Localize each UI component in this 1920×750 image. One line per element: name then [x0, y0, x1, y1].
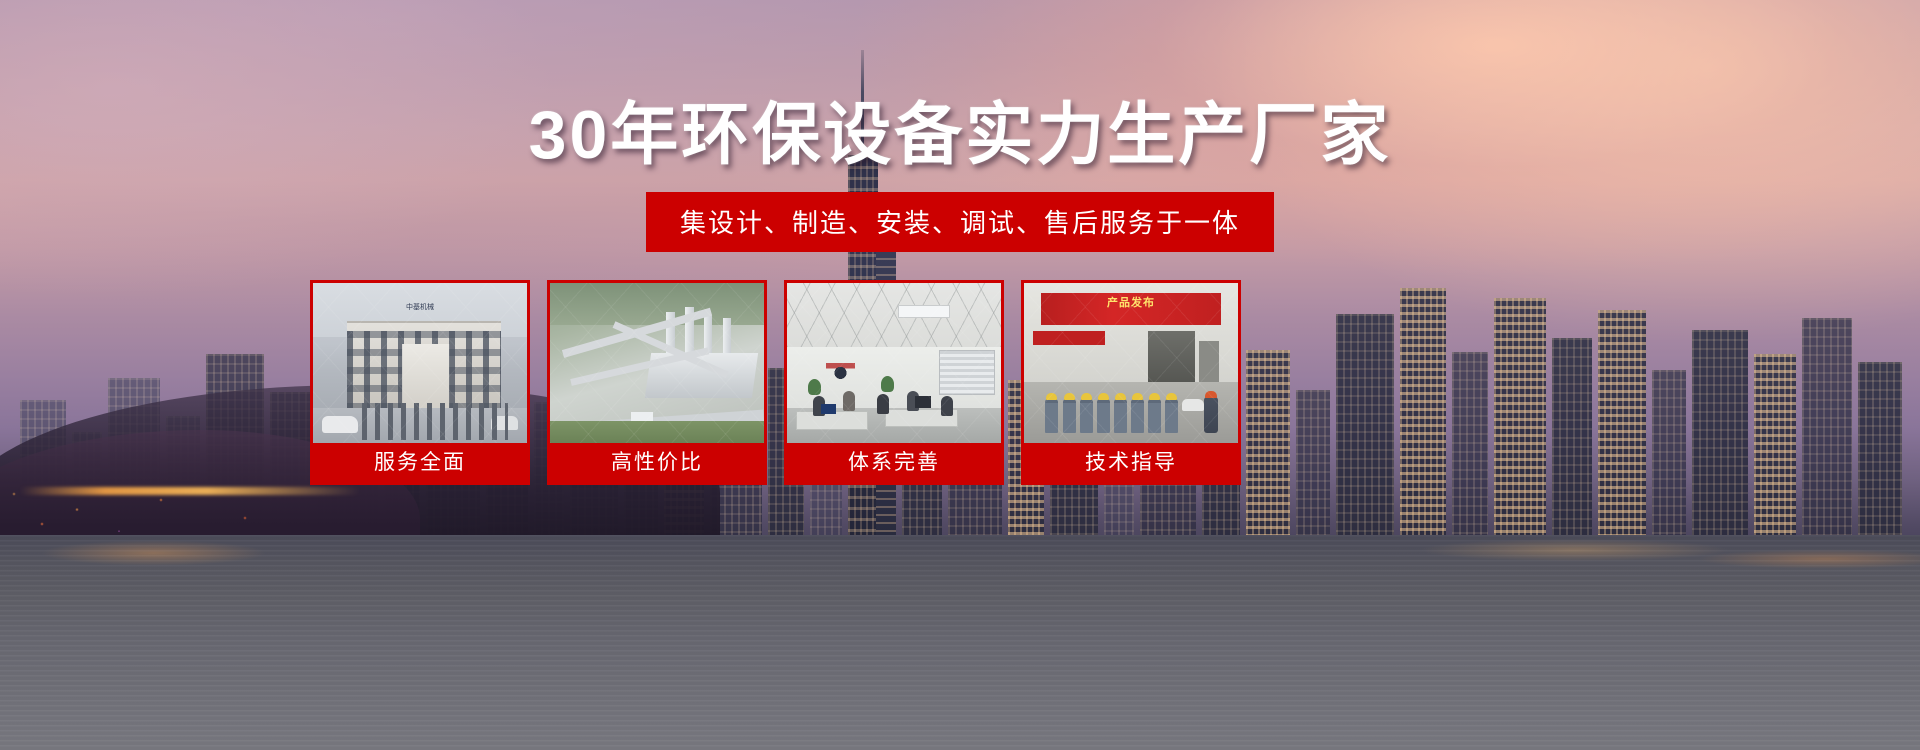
subtitle-container: 集设计、制造、安装、调试、售后服务于一体 [0, 192, 1920, 252]
workshop-banner-text: 产品发布 [1041, 293, 1221, 309]
feature-card-guidance[interactable]: 产品发布 技术指导 [1021, 280, 1241, 485]
card-label-guidance: 技术指导 [1024, 443, 1238, 482]
card-label-system: 体系完善 [787, 443, 1001, 482]
subtitle-badge: 集设计、制造、安装、调试、售后服务于一体 [646, 192, 1274, 252]
page-title: 30年环保设备实力生产厂家 [0, 98, 1920, 173]
feature-card-system[interactable]: 体系完善 [784, 280, 1004, 485]
feature-card-service[interactable]: 中基机械 服务全面 [310, 280, 530, 485]
hero-banner: 30年环保设备实力生产厂家 集设计、制造、安装、调试、售后服务于一体 中基机械 … [0, 0, 1920, 750]
building-sign-text: 中基机械 [377, 304, 463, 318]
card-photo-office-building: 中基机械 [313, 283, 527, 443]
workshop-banner: 产品发布 [1041, 293, 1221, 325]
water-shimmer [0, 535, 1920, 750]
card-photo-office-interior [787, 283, 1001, 443]
feature-card-list: 中基机械 服务全面 [310, 280, 1241, 485]
feature-card-value[interactable]: 高性价比 [547, 280, 767, 485]
card-photo-workshop: 产品发布 [1024, 283, 1238, 443]
card-photo-aerial-plant [550, 283, 764, 443]
card-label-value: 高性价比 [550, 443, 764, 482]
card-label-service: 服务全面 [313, 443, 527, 482]
wall-logo-icon [826, 363, 856, 381]
river-water [0, 535, 1920, 750]
